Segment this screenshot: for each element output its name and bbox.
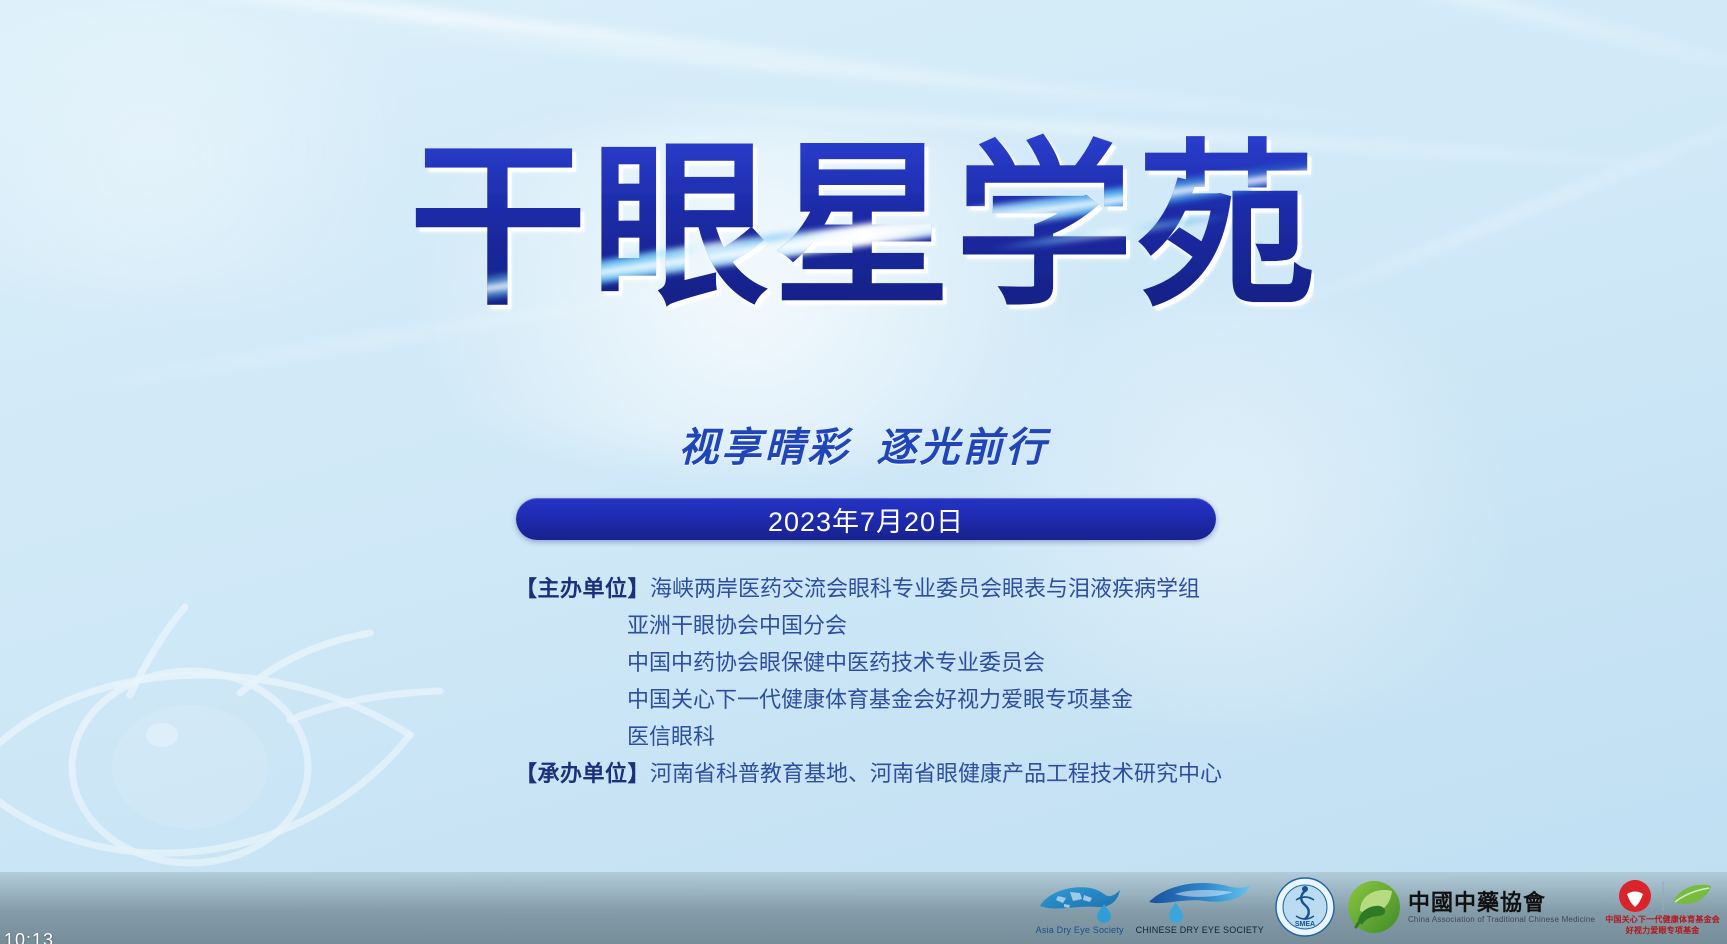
host-label: 【主办单位】	[515, 576, 650, 601]
red-figure-icon	[1619, 880, 1651, 912]
host-item: 中国关心下一代健康体育基金会好视力爱眼专项基金	[627, 687, 1133, 712]
host-item: 亚洲干眼协会中国分会	[627, 613, 847, 638]
host-line: 中国中药协会眼保健中医药技术专业委员会	[515, 644, 1275, 681]
logo-caption: CHINESE DRY EYE SOCIETY	[1136, 925, 1264, 935]
logo-caption-cn: 中國中藥協會	[1408, 891, 1546, 915]
host-item: 海峡两岸医药交流会眼科专业委员会眼表与泪液疾病学组	[650, 576, 1200, 601]
main-title: 干眼星学苑 干眼星学苑 干眼星学苑	[0, 128, 1727, 343]
asia-dry-eye-society-icon	[1034, 880, 1126, 924]
logo-china-tcm-association: 中國中藥協會 China Association of Traditional …	[1346, 879, 1595, 935]
host-line: 亚洲干眼协会中国分会	[515, 607, 1275, 644]
light-streak	[991, 0, 1727, 105]
smea-emblem-icon: SMEA	[1274, 876, 1336, 938]
logo-asia-dry-eye-society: Asia Dry Eye Society	[1034, 880, 1126, 935]
logo-caption: Asia Dry Eye Society	[1036, 925, 1124, 935]
host-line: 【主办单位】海峡两岸医药交流会眼科专业委员会眼表与泪液疾病学组	[515, 570, 1275, 607]
date-banner: 2023年7月20日	[516, 498, 1216, 540]
player-timestamp: 10:13	[4, 930, 54, 944]
host-item: 中国中药协会眼保健中医药技术专业委员会	[627, 650, 1045, 675]
sponsor-logo-strip: Asia Dry Eye Society CHINESE DRY EYE SOC…	[960, 870, 1720, 944]
tcm-hand-leaf-icon	[1346, 879, 1402, 935]
organizer-item: 河南省科普教育基地、河南省眼健康产品工程技术研究中心	[650, 761, 1222, 786]
logo-chinese-dry-eye-society: CHINESE DRY EYE SOCIETY	[1136, 880, 1264, 935]
logo-caption-en: China Association of Traditional Chinese…	[1408, 915, 1595, 924]
host-line: 中国关心下一代健康体育基金会好视力爱眼专项基金	[515, 681, 1275, 718]
logo-caption-line2: 好视力爱眼专项基金	[1626, 926, 1700, 936]
light-streak	[242, 13, 1418, 129]
organizer-label: 【承办单位】	[515, 761, 650, 786]
date-text: 2023年7月20日	[768, 500, 964, 539]
fund-figure-leaf-icon	[1609, 878, 1717, 914]
host-line: 医信眼科	[515, 718, 1275, 755]
light-streak	[0, 0, 1127, 102]
chinese-dry-eye-society-icon	[1145, 880, 1255, 924]
logo-healthy-generation-fund: 中国关心下一代健康体育基金会 好视力爱眼专项基金	[1605, 878, 1720, 936]
subtitle-right: 逐光前行	[877, 425, 1049, 470]
logo-caption-line1: 中国关心下一代健康体育基金会	[1605, 915, 1720, 925]
host-item: 医信眼科	[627, 724, 715, 749]
logo-smea-emblem: SMEA	[1274, 876, 1336, 938]
eye-watermark-icon	[0, 585, 460, 915]
slide-canvas: 干眼星学苑 干眼星学苑 干眼星学苑 视享晴彩逐光前行 2023年7月20日 【主	[0, 0, 1727, 944]
organizer-block: 【主办单位】海峡两岸医药交流会眼科专业委员会眼表与泪液疾病学组 亚洲干眼协会中国…	[515, 570, 1275, 792]
subtitle-left: 视享晴彩	[679, 425, 851, 470]
title-calligraphy: 干眼星学苑 干眼星学苑 干眼星学苑	[414, 128, 1314, 343]
green-leaf-icon	[1673, 885, 1711, 904]
logo-caption: SMEA	[1295, 921, 1315, 928]
subtitle: 视享晴彩逐光前行	[0, 415, 1727, 473]
organizer-line: 【承办单位】河南省科普教育基地、河南省眼健康产品工程技术研究中心	[515, 755, 1275, 792]
